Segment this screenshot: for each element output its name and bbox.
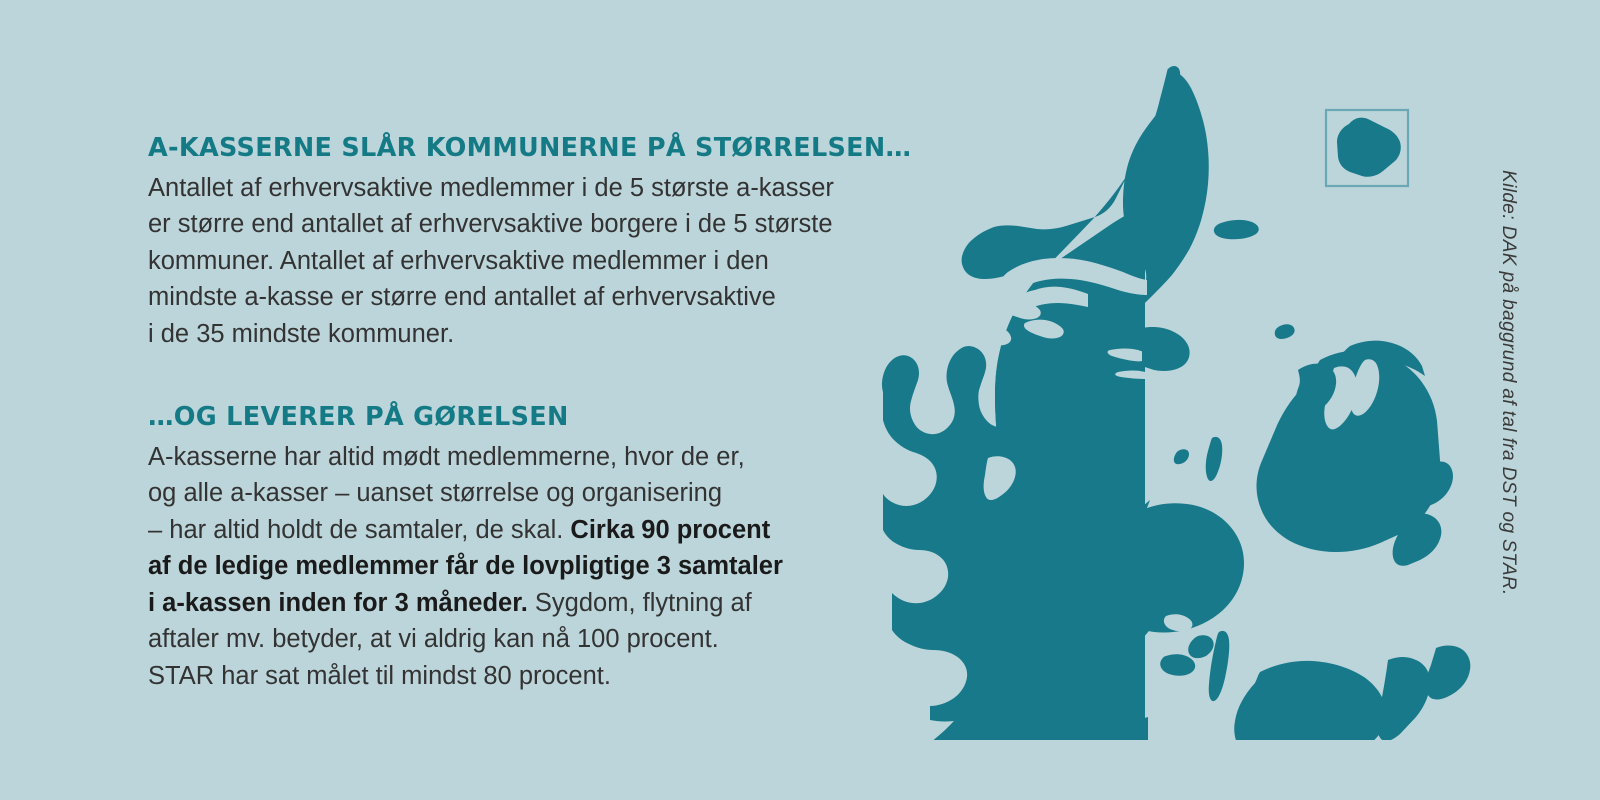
block-one-body: Antallet af erhvervsaktive medlemmer i d… [148, 170, 888, 353]
body-line: STAR har sat målet til mindst 80 procent… [148, 658, 888, 695]
body-text-run-bold: af de ledige medlemmer får de lovpligtig… [148, 552, 783, 580]
body-line: i de 35 mindste kommuner. [148, 316, 888, 353]
block-two-heading: …OG LEVERER PÅ GØRELSEN [148, 405, 888, 431]
body-text-run-bold: i a-kassen inden for 3 måneder. [148, 589, 528, 617]
body-line: og alle a-kasser – uanset størrelse og o… [148, 475, 888, 512]
infographic-canvas: A-KASSERNE SLÅR KOMMUNERNE PÅ STØRRELSEN… [0, 0, 1600, 800]
body-text-run: aftaler mv. betyder, at vi aldrig kan nå… [148, 625, 719, 653]
body-text-run: og alle a-kasser – uanset størrelse og o… [148, 479, 722, 507]
body-line: af de ledige medlemmer får de lovpligtig… [148, 548, 888, 585]
body-text-run: Sygdom, flytning af [528, 589, 752, 617]
text-column: A-KASSERNE SLÅR KOMMUNERNE PÅ STØRRELSEN… [148, 136, 888, 694]
source-credit: Kilde: DAK på baggrund af tal fra DST og… [1497, 170, 1519, 610]
block-two-body: A-kasserne har altid mødt medlemmerne, h… [148, 439, 888, 695]
body-line: er større end antallet af erhvervsaktive… [148, 206, 888, 243]
body-text-run: A-kasserne har altid mødt medlemmerne, h… [148, 443, 745, 471]
body-line: kommuner. Antallet af erhvervsaktive med… [148, 243, 888, 280]
text-block-two: …OG LEVERER PÅ GØRELSEN A-kasserne har a… [148, 405, 888, 694]
map-bornholm [1337, 118, 1401, 177]
body-line: A-kasserne har altid mødt medlemmerne, h… [148, 439, 888, 476]
body-line: – har altid holdt de samtaler, de skal. … [148, 512, 888, 549]
body-text-run: STAR har sat målet til mindst 80 procent… [148, 662, 611, 690]
block-one-heading: A-KASSERNE SLÅR KOMMUNERNE PÅ STØRRELSEN… [148, 136, 888, 162]
map-moen [1426, 646, 1470, 700]
body-text-run: – har altid holdt de samtaler, de skal. [148, 516, 570, 544]
denmark-map [880, 60, 1500, 740]
body-line: mindste a-kasse er større end antallet a… [148, 279, 888, 316]
body-line: i a-kassen inden for 3 måneder. Sygdom, … [148, 585, 888, 622]
body-text-run-bold: Cirka 90 procent [570, 516, 770, 544]
text-block-one: A-KASSERNE SLÅR KOMMUNERNE PÅ STØRRELSEN… [148, 136, 888, 352]
map-falster [1377, 657, 1430, 740]
body-line: Antallet af erhvervsaktive medlemmer i d… [148, 170, 888, 207]
body-line: aftaler mv. betyder, at vi aldrig kan nå… [148, 621, 888, 658]
